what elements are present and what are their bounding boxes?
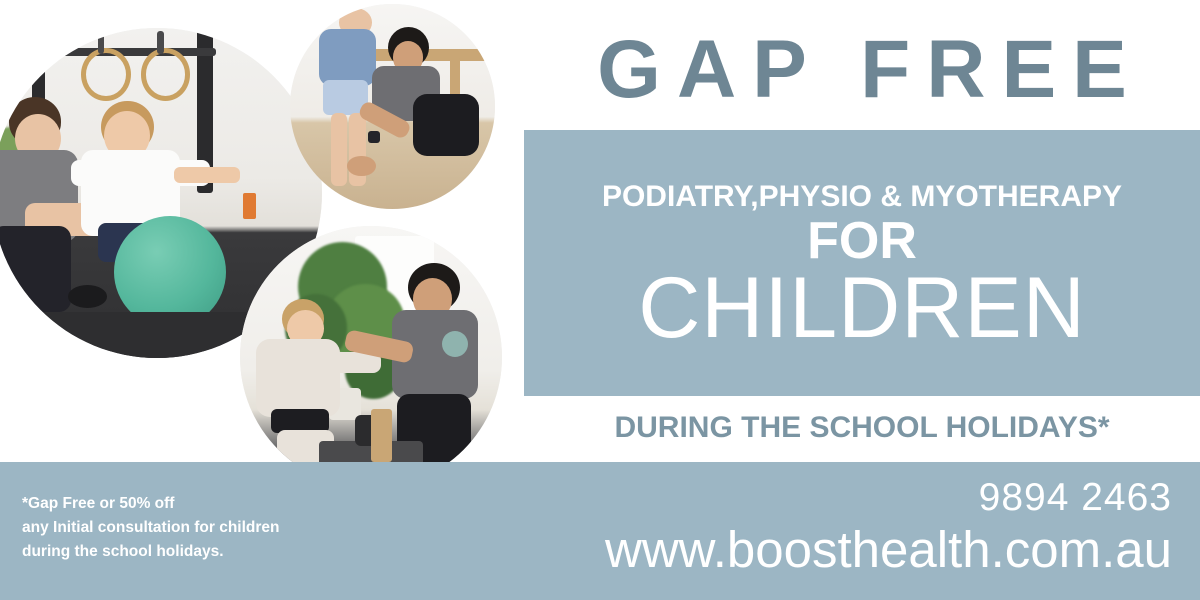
fine-print: *Gap Free or 50% off any Initial consult… (22, 492, 442, 564)
photo-clinician-guiding-woman-exercise (240, 226, 502, 488)
fine-print-line-2: any Initial consultation for children (22, 516, 442, 540)
headline-gap-free: GAP FREE (524, 18, 1200, 122)
subline-text: DURING THE SCHOOL HOLIDAYS* (614, 413, 1109, 443)
photo-podiatrist-checking-child-leg (290, 4, 495, 209)
photo-collage (0, 0, 520, 470)
headline-text: GAP FREE (581, 29, 1143, 111)
fine-print-line-3: during the school holidays. (22, 540, 442, 564)
services-line: PODIATRY,PHYSIO & MYOTHERAPY (602, 181, 1122, 213)
contact-block: 9894 2463 www.boosthealth.com.au (412, 476, 1172, 578)
fine-print-line-1: *Gap Free or 50% off (22, 492, 442, 516)
promotional-banner: GAP FREE PODIATRY,PHYSIO & MYOTHERAPY FO… (0, 0, 1200, 600)
audience-line: CHILDREN (638, 265, 1086, 351)
website-url[interactable]: www.boosthealth.com.au (412, 521, 1172, 578)
school-holidays-subline: DURING THE SCHOOL HOLIDAYS* (524, 404, 1200, 452)
phone-number[interactable]: 9894 2463 (412, 476, 1172, 521)
footer-bar: *Gap Free or 50% off any Initial consult… (0, 462, 1200, 600)
offer-panel: PODIATRY,PHYSIO & MYOTHERAPY FOR CHILDRE… (524, 130, 1200, 396)
